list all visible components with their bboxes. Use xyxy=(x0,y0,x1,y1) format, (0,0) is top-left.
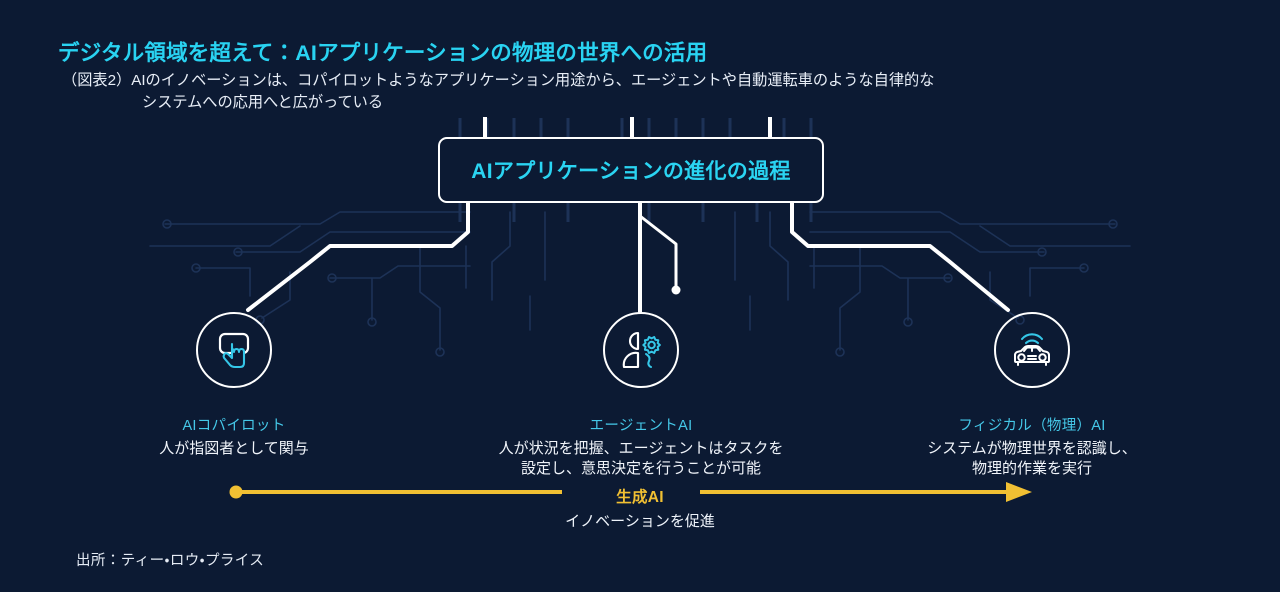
page-subtitle: （図表2）AIのイノベーションは、コパイロットようなアプリケーション用途から、エ… xyxy=(62,70,1192,114)
subtitle-line-2: システムへの応用へと広がっている xyxy=(62,92,1192,114)
node-physical: フィジカル（物理）AI システムが物理世界を認識し、 物理的作業を実行 xyxy=(886,312,1178,479)
node-physical-title: フィジカル（物理）AI xyxy=(886,414,1178,435)
node-agentic-description: 人が状況を把握、エージェントはタスクを 設定し、意思決定を行うことが可能 xyxy=(458,439,824,479)
spectrum-arrowhead xyxy=(1006,482,1032,502)
node-copilot: AIコパイロット 人が指図者として関与 xyxy=(106,312,362,459)
node-agentic: エージェントAI 人が状況を把握、エージェントはタスクを 設定し、意思決定を行う… xyxy=(458,312,824,479)
car-wifi-icon xyxy=(1007,328,1057,372)
page-title: デジタル領域を超えて：AIアプリケーションの物理の世界への活用 xyxy=(58,36,707,67)
center-process-box: AIアプリケーションの進化の過程 xyxy=(438,137,824,203)
node-agentic-circle xyxy=(603,312,679,388)
person-gear-icon xyxy=(618,327,664,373)
spectrum-left-dot xyxy=(230,486,243,499)
node-copilot-description: 人が指図者として関与 xyxy=(106,439,362,459)
hand-tap-screen-icon xyxy=(212,328,256,372)
node-agentic-title: エージェントAI xyxy=(458,414,824,435)
center-process-box-label: AIアプリケーションの進化の過程 xyxy=(471,155,790,185)
spectrum-label: 生成AI xyxy=(540,485,740,507)
node-copilot-circle xyxy=(196,312,272,388)
source-note: 出所：ティー・ロウ・プライス xyxy=(76,549,264,570)
node-copilot-title: AIコパイロット xyxy=(106,414,362,435)
infographic-canvas: デジタル領域を超えて：AIアプリケーションの物理の世界への活用 （図表2）AIの… xyxy=(0,0,1280,592)
node-physical-circle xyxy=(994,312,1070,388)
node-physical-description: システムが物理世界を認識し、 物理的作業を実行 xyxy=(886,439,1178,479)
spectrum-sublabel: イノベーションを促進 xyxy=(520,510,760,531)
subtitle-line-1: （図表2）AIのイノベーションは、コパイロットようなアプリケーション用途から、エ… xyxy=(62,72,934,89)
